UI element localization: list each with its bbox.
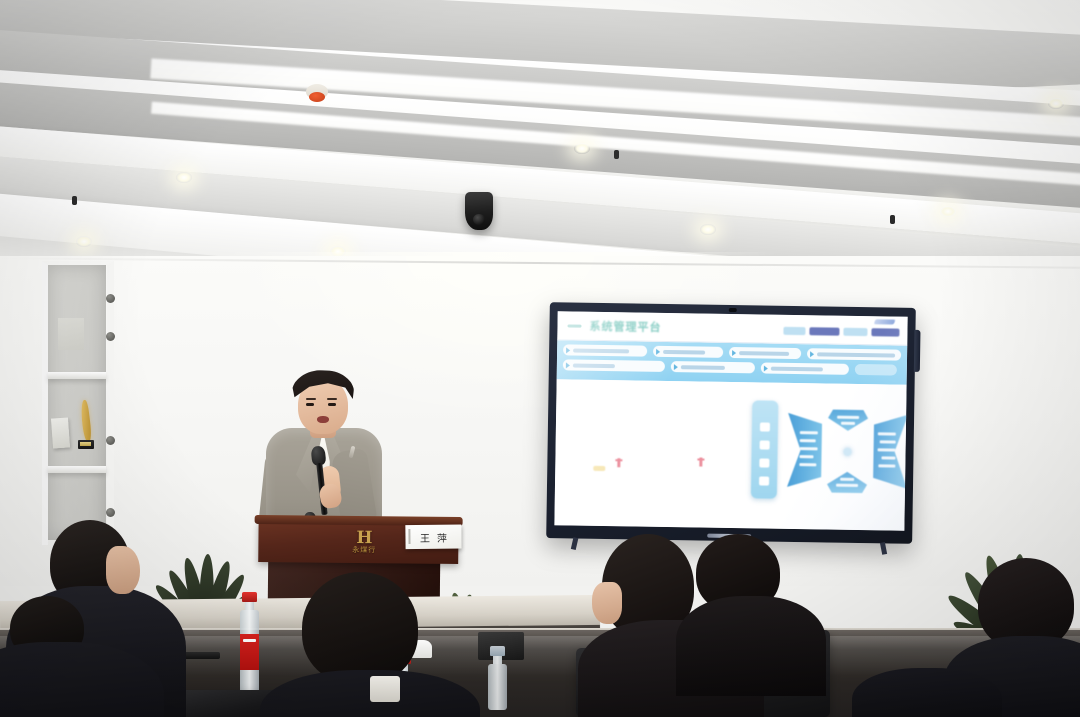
panel-camera-icon bbox=[729, 308, 737, 312]
top-arrow-icon bbox=[828, 410, 868, 432]
header-button-1[interactable] bbox=[783, 327, 805, 335]
slide-header: 系统管理平台 bbox=[557, 311, 907, 345]
water-bottle[interactable] bbox=[240, 592, 259, 698]
downlight bbox=[76, 236, 92, 247]
presenter-mouth bbox=[317, 416, 329, 423]
niche-shelf bbox=[48, 372, 106, 379]
filter-row bbox=[563, 359, 901, 375]
downlight bbox=[1048, 98, 1064, 109]
header-tab-mark bbox=[874, 319, 896, 324]
back-arrow-icon[interactable] bbox=[567, 324, 581, 327]
downlight bbox=[574, 143, 590, 154]
podium-logo: H 永煤行 bbox=[346, 531, 382, 557]
niche-knob bbox=[106, 508, 115, 517]
filter-field-6[interactable] bbox=[671, 361, 755, 373]
niche-knob bbox=[106, 436, 115, 445]
nameplate: 王 萍 bbox=[405, 524, 461, 549]
niche-knob bbox=[106, 294, 115, 303]
slide-content: 系统管理平台 bbox=[554, 311, 907, 530]
mark-yellow-1 bbox=[593, 466, 605, 471]
attendee-right-far bbox=[684, 534, 814, 670]
conference-room-photo: 系统管理平台 bbox=[0, 0, 1080, 717]
filter-field-1[interactable] bbox=[563, 344, 647, 356]
header-button-group bbox=[783, 327, 899, 337]
filter-field-3[interactable] bbox=[729, 347, 802, 359]
presenter-brow-left bbox=[306, 398, 316, 400]
nameplate-given: 萍 bbox=[437, 529, 447, 544]
filter-field-2[interactable] bbox=[653, 346, 723, 358]
attendee-left-back bbox=[0, 596, 150, 717]
left-arrow-icon bbox=[787, 413, 822, 488]
slide-filter-bar bbox=[557, 340, 908, 384]
downlight bbox=[940, 206, 956, 217]
converging-arrows-diagram bbox=[787, 403, 908, 500]
light-stem bbox=[890, 215, 895, 224]
slide-body bbox=[554, 379, 906, 530]
search-button[interactable] bbox=[855, 364, 897, 376]
attendee-center bbox=[266, 572, 466, 717]
podium-logo-mark: H bbox=[346, 531, 382, 546]
attendee-right-foreground bbox=[852, 668, 992, 717]
header-button-4[interactable] bbox=[871, 328, 899, 336]
downlight bbox=[700, 224, 716, 235]
filter-field-4[interactable] bbox=[807, 348, 901, 360]
bottom-arrow-icon bbox=[827, 472, 867, 494]
filter-row bbox=[563, 344, 901, 360]
presenter-eye-right bbox=[328, 403, 336, 406]
ptz-camera-icon bbox=[465, 192, 493, 230]
filter-field-7[interactable] bbox=[761, 362, 849, 374]
water-bottle[interactable] bbox=[488, 646, 507, 710]
filter-field-5[interactable] bbox=[563, 359, 665, 372]
gold-trophy-icon bbox=[78, 400, 94, 454]
right-arrow-icon bbox=[873, 414, 908, 489]
mark-red-2 bbox=[697, 457, 704, 466]
downlight bbox=[176, 172, 192, 183]
panel-side-port bbox=[914, 330, 921, 372]
header-button-2[interactable] bbox=[809, 327, 839, 335]
smoke-detector-icon bbox=[306, 84, 328, 99]
diagram-core bbox=[843, 448, 851, 456]
niche-plaque bbox=[58, 318, 84, 350]
podium-logo-text: 永煤行 bbox=[346, 546, 382, 555]
light-stem bbox=[614, 150, 619, 159]
light-stem bbox=[72, 196, 77, 205]
ceiling bbox=[0, 0, 1080, 268]
slide-title: 系统管理平台 bbox=[589, 318, 661, 335]
mark-red-1 bbox=[615, 458, 622, 467]
niche-shelf bbox=[48, 466, 106, 473]
header-button-3[interactable] bbox=[843, 328, 867, 336]
presenter-brow-right bbox=[327, 398, 337, 400]
presenter-eye-left bbox=[306, 403, 314, 406]
award-card bbox=[51, 417, 70, 448]
nameplate-surname: 王 bbox=[420, 529, 430, 544]
niche-knob bbox=[106, 332, 115, 341]
interactive-flat-panel[interactable]: 系统管理平台 bbox=[546, 302, 916, 544]
vertical-list-card bbox=[751, 400, 779, 498]
